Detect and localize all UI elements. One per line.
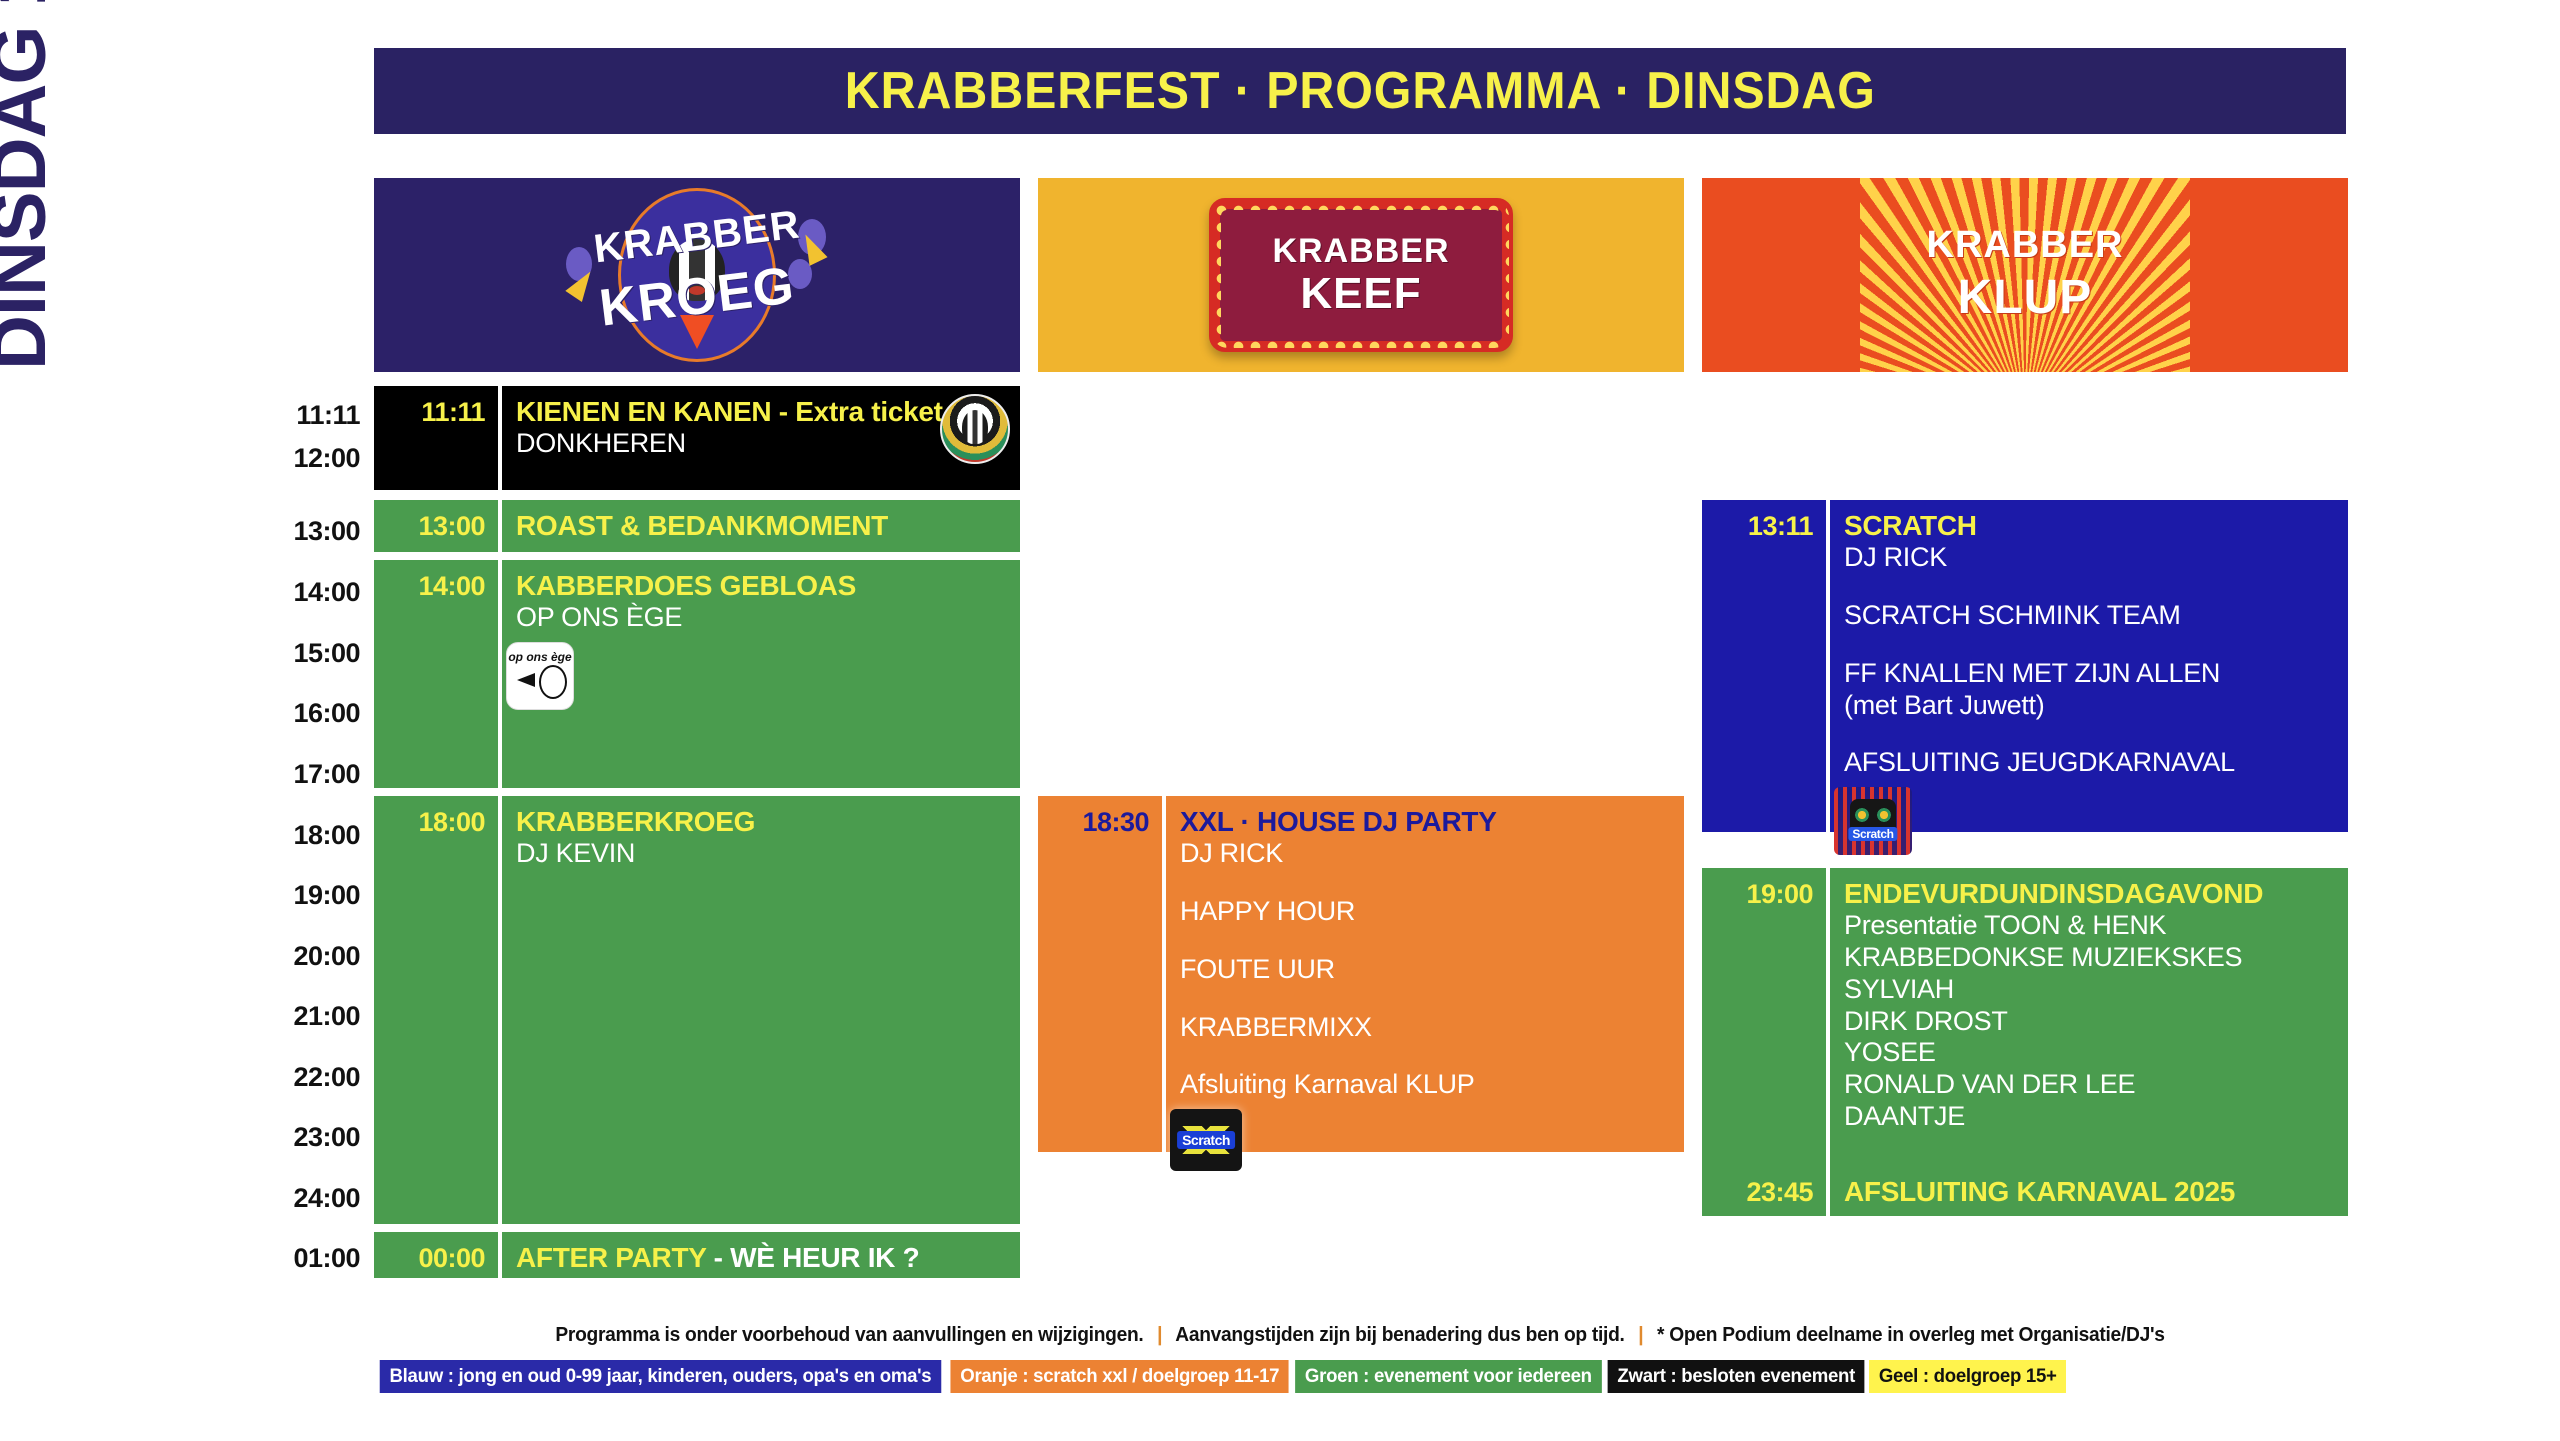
venue-logo-line-2: KEEF (1300, 272, 1421, 316)
event-title-main: AFTER PARTY (516, 1242, 706, 1273)
event-line: FF KNALLEN MET ZIJN ALLEN (1844, 658, 2334, 690)
legend-item-groen: Groen : evenement voor iedereen (1295, 1360, 1601, 1393)
time-tick: 17:00 (240, 759, 360, 790)
event-body: SCRATCH DJ RICK SCRATCH SCHMINK TEAM FF … (1830, 500, 2348, 832)
event-title: AFTER PARTY - WÈ HEUR IK ? (516, 1241, 1006, 1274)
event-block[interactable]: 23:45 AFSLUITING KARNAVAL 2025 (1702, 1166, 2348, 1216)
event-body: XXL · HOUSE DJ PARTY DJ RICK HAPPY HOUR … (1166, 796, 1684, 1152)
krabber-klup-logo: KRABBER KLUP (1825, 178, 2225, 372)
event-body: ENDEVURDUNDINSDAGAVOND Presentatie TOON … (1830, 868, 2348, 1216)
event-block[interactable]: 18:30 XXL · HOUSE DJ PARTY DJ RICK HAPPY… (1038, 796, 1684, 1152)
footer-note-3: * Open Podium deelname in overleg met Or… (1657, 1324, 2165, 1346)
legend-label: Blauw : jong en oud 0-99 jaar, kinderen,… (390, 1366, 932, 1388)
event-time-cell: 13:11 (1702, 500, 1826, 832)
legend-label: Zwart : besloten evenement (1617, 1366, 1855, 1388)
time-tick: 22:00 (240, 1062, 360, 1093)
time-tick: 23:00 (240, 1122, 360, 1153)
event-line: DAANTJE (1844, 1101, 2334, 1133)
scratch-dj-logo-icon: Scratch (1834, 787, 1912, 855)
event-title: KIENEN EN KANEN - Extra ticket (516, 395, 1006, 428)
event-block[interactable]: 11:11 KIENEN EN KANEN - Extra ticket DON… (374, 386, 1020, 490)
event-time: 18:30 (1082, 807, 1149, 1152)
legend-bar: Blauw : jong en oud 0-99 jaar, kinderen,… (374, 1360, 2346, 1393)
event-time-cell: 18:00 (374, 796, 498, 1224)
event-time: 18:00 (418, 807, 485, 1224)
event-line: SYLVIAH (1844, 974, 2334, 1006)
event-title: ENDEVURDUNDINSDAGAVOND (1844, 877, 2334, 910)
time-tick: 15:00 (240, 638, 360, 669)
venue-banner-krabber-klup: KRABBER KLUP (1702, 178, 2348, 372)
event-time: 00:00 (418, 1243, 485, 1278)
event-line: Afsluiting Karnaval KLUP (1180, 1069, 1670, 1101)
page-title-bar: KRABBERFEST · PROGRAMMA · DINSDAG (374, 48, 2346, 134)
event-block[interactable]: 13:00 ROAST & BEDANKMOMENT (374, 500, 1020, 552)
event-title: XXL · HOUSE DJ PARTY (1180, 805, 1670, 838)
page-title: KRABBERFEST · PROGRAMMA · DINSDAG (844, 61, 1875, 121)
event-body: AFSLUITING KARNAVAL 2025 (1830, 1166, 2348, 1216)
event-line: Presentatie TOON & HENK (1844, 910, 2334, 942)
footer-disclaimer: Programma is onder voorbehoud van aanvul… (413, 1324, 2306, 1347)
event-time-cell: 11:11 (374, 386, 498, 490)
scratch-xxl-logo-icon: Scratch (1170, 1109, 1242, 1171)
legend-label: Geel : doelgroep 15+ (1879, 1366, 2057, 1388)
time-tick: 24:00 (240, 1183, 360, 1214)
time-tick: 18:00 (240, 820, 360, 851)
event-time: 11:11 (421, 397, 485, 490)
op-ons-ege-logo-icon: op ons ège (506, 642, 574, 710)
kienen-en-kanen-logo-icon (940, 394, 1010, 464)
footer-separator: | (1630, 1324, 1652, 1346)
event-block[interactable]: 13:11 SCRATCH DJ RICK SCRATCH SCHMINK TE… (1702, 500, 2348, 832)
event-line: FOUTE UUR (1180, 954, 1670, 986)
krabber-kroeg-logo: KRABBER KROEG (552, 185, 842, 365)
krabber-keef-logo: KRABBER KEEF (1209, 198, 1513, 352)
time-tick: 14:00 (240, 577, 360, 608)
event-line: KRABBEDONKSE MUZIEKSKES (1844, 942, 2334, 974)
event-block[interactable]: 19:00 ENDEVURDUNDINSDAGAVOND Presentatie… (1702, 868, 2348, 1216)
event-block[interactable]: 18:00 KRABBERKROEG DJ KEVIN (374, 796, 1020, 1224)
time-tick: 16:00 (240, 698, 360, 729)
event-body: KIENEN EN KANEN - Extra ticket DONKHEREN (502, 386, 1020, 490)
event-line: YOSEE (1844, 1037, 2334, 1069)
event-title-suffix: - WÈ HEUR IK ? (706, 1242, 919, 1273)
event-line: DJ RICK (1180, 838, 1670, 870)
venue-banner-krabber-keef: KRABBER KEEF (1038, 178, 1684, 372)
legend-item-oranje: Oranje : scratch xxl / doelgroep 11-17 (950, 1360, 1289, 1393)
event-time: 14:00 (418, 571, 485, 788)
event-line: DONKHEREN (516, 428, 1006, 460)
time-tick: 11:11 (240, 400, 360, 431)
event-line: (met Bart Juwett) (1844, 690, 2334, 722)
time-tick: 12:00 (240, 443, 360, 474)
event-title: KABBERDOES GEBLOAS (516, 569, 1006, 602)
event-body: AFTER PARTY - WÈ HEUR IK ? (502, 1232, 1020, 1278)
event-title: AFSLUITING KARNAVAL 2025 (1844, 1175, 2334, 1208)
legend-item-blauw: Blauw : jong en oud 0-99 jaar, kinderen,… (380, 1360, 941, 1393)
event-line: SCRATCH SCHMINK TEAM (1844, 600, 2334, 632)
venue-logo-line-1: KRABBER (1825, 224, 2225, 267)
event-body: KABBERDOES GEBLOAS OP ONS ÈGE op ons ège (502, 560, 1020, 788)
event-time-cell: 18:30 (1038, 796, 1162, 1152)
event-time: 13:00 (418, 511, 485, 552)
time-tick: 21:00 (240, 1001, 360, 1032)
legend-item-geel: Geel : doelgroep 15+ (1869, 1360, 2066, 1393)
event-block[interactable]: 14:00 KABBERDOES GEBLOAS OP ONS ÈGE op o… (374, 560, 1020, 788)
event-line: DJ KEVIN (516, 838, 1006, 870)
venue-banner-krabber-kroeg: KRABBER KROEG (374, 178, 1020, 372)
event-line: HAPPY HOUR (1180, 896, 1670, 928)
event-line: DIRK DROST (1844, 1006, 2334, 1038)
event-title: ROAST & BEDANKMOMENT (516, 509, 1006, 542)
event-time-cell: 23:45 (1702, 1166, 1826, 1216)
event-line: DJ RICK (1844, 542, 2334, 574)
event-time-cell: 14:00 (374, 560, 498, 788)
legend-label: Oranje : scratch xxl / doelgroep 11-17 (960, 1366, 1279, 1388)
time-tick: 19:00 (240, 880, 360, 911)
time-tick: 01:00 (240, 1243, 360, 1274)
event-block[interactable]: 00:00 AFTER PARTY - WÈ HEUR IK ? (374, 1232, 1020, 1278)
event-title: SCRATCH (1844, 509, 2334, 542)
event-line: AFSLUITING JEUGDKARNAVAL (1844, 747, 2334, 779)
event-time-cell: 00:00 (374, 1232, 498, 1278)
event-line: OP ONS ÈGE (516, 602, 1006, 634)
event-time: 23:45 (1746, 1177, 1813, 1216)
time-tick: 20:00 (240, 941, 360, 972)
event-time: 13:11 (1748, 511, 1813, 832)
legend-label: Groen : evenement voor iedereen (1305, 1366, 1592, 1388)
venue-logo-line-1: KRABBER (1273, 234, 1450, 268)
footer-separator: | (1149, 1324, 1171, 1346)
event-time-cell: 13:00 (374, 500, 498, 552)
event-body: ROAST & BEDANKMOMENT (502, 500, 1020, 552)
footer-note-2: Aanvangstijden zijn bij benadering dus b… (1175, 1324, 1624, 1346)
venue-logo-line-2: KLUP (1825, 270, 2225, 325)
event-line: KRABBERMIXX (1180, 1012, 1670, 1044)
time-tick: 13:00 (240, 516, 360, 547)
legend-item-zwart: Zwart : besloten evenement (1608, 1360, 1865, 1393)
footer-note-1: Programma is onder voorbehoud van aanvul… (555, 1324, 1143, 1346)
event-body: KRABBERKROEG DJ KEVIN (502, 796, 1020, 1224)
event-line: RONALD VAN DER LEE (1844, 1069, 2334, 1101)
event-time-cell: 19:00 (1702, 868, 1826, 1216)
event-title: KRABBERKROEG (516, 805, 1006, 838)
day-label: DINSDAG 17 FEBRUARI (0, 0, 62, 370)
